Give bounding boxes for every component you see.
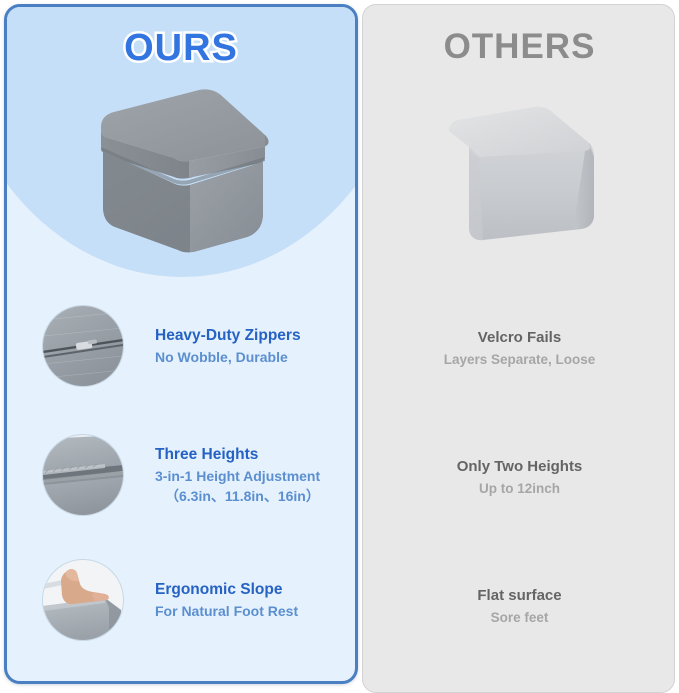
gray-two-layer-foam-wedge-photo (89, 85, 279, 257)
ours-title: OURS (7, 27, 355, 70)
feature-text: Ergonomic Slope For Natural Foot Rest (155, 579, 298, 621)
others-row-subtitle: Layers Separate, Loose (363, 350, 675, 370)
feature-text: Three Heights 3-in-1 Height Adjustment （… (155, 444, 320, 506)
feature-text: Heavy-Duty Zippers No Wobble, Durable (155, 325, 301, 367)
stacked-foam-layers-photo (43, 435, 123, 515)
feature-row: Ergonomic Slope For Natural Foot Rest (7, 557, 355, 643)
others-row-subtitle: Up to 12inch (363, 479, 675, 499)
feature-subtitle-heights: （6.3in、11.8in、16in） (155, 486, 320, 506)
zipper-closeup-photo (43, 306, 123, 386)
others-row: Only Two Heights Up to 12inch (363, 456, 675, 499)
feature-row: Heavy-Duty Zippers No Wobble, Durable (7, 303, 355, 389)
others-panel: OTHERS (362, 4, 675, 693)
others-row-title: Flat surface (363, 585, 675, 606)
others-row-subtitle: Sore feet (363, 608, 675, 628)
others-row: Flat surface Sore feet (363, 585, 675, 628)
foot-on-wedge-photo (43, 560, 123, 640)
comparison-infographic: OTHERS (0, 0, 679, 688)
feature-row: Three Heights 3-in-1 Height Adjustment （… (7, 432, 355, 518)
feature-subtitle: For Natural Foot Rest (155, 601, 298, 621)
feature-title: Heavy-Duty Zippers (155, 325, 301, 347)
others-row-title: Velcro Fails (363, 327, 675, 348)
others-row: Velcro Fails Layers Separate, Loose (363, 327, 675, 370)
feature-title: Three Heights (155, 444, 320, 466)
feature-subtitle: No Wobble, Durable (155, 347, 301, 367)
others-rows: Velcro Fails Layers Separate, Loose Only… (363, 5, 675, 692)
ours-panel: OURS (4, 4, 358, 684)
feature-title: Ergonomic Slope (155, 579, 298, 601)
feature-subtitle: 3-in-1 Height Adjustment (155, 466, 320, 486)
others-row-title: Only Two Heights (363, 456, 675, 477)
